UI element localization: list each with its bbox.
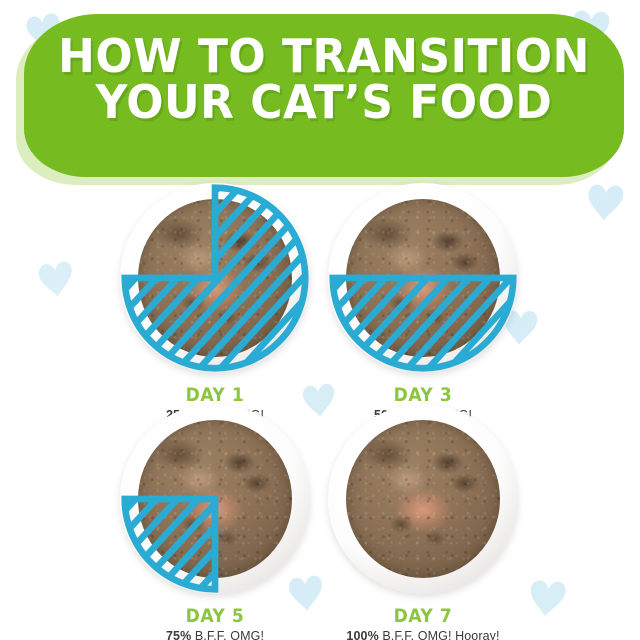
cat-food-surface (346, 420, 500, 578)
day-label: DAY 1 (95, 384, 335, 406)
day-label: DAY 7 (303, 605, 543, 627)
bff-text: B.F.F. OMG! Hooray! (379, 629, 500, 640)
diagonal-hatch-icon (120, 404, 310, 594)
bff-percent: 75% (166, 629, 191, 640)
title-line-1: HOW TO TRANSITION (6, 34, 640, 78)
banner-shape: HOW TO TRANSITION YOUR CAT’S FOOD (24, 14, 624, 177)
food-bowl (328, 404, 518, 594)
food-bowl (328, 183, 518, 373)
infographic-canvas: HOW TO TRANSITION YOUR CAT’S FOOD DAY 12… (0, 0, 640, 640)
transition-step: DAY 125% B.F.F. OMG! (95, 183, 335, 422)
day-label: DAY 5 (95, 605, 335, 627)
bff-text: B.F.F. OMG! (191, 629, 264, 640)
transition-step: DAY 350% B.F.F. OMG! (303, 183, 543, 422)
page-title: HOW TO TRANSITION YOUR CAT’S FOOD (6, 34, 640, 124)
day-label: DAY 3 (303, 384, 543, 406)
title-line-2: YOUR CAT’S FOOD (6, 80, 640, 124)
transition-step: DAY 575% B.F.F. OMG! (95, 404, 335, 640)
diagonal-hatch-icon (120, 183, 310, 373)
food-bowl (120, 404, 310, 594)
day-sublabel: 75% B.F.F. OMG! (95, 629, 335, 640)
day-sublabel: 100% B.F.F. OMG! Hooray! (303, 629, 543, 640)
food-bowl (120, 183, 310, 373)
heart-icon (34, 258, 78, 302)
header-banner: HOW TO TRANSITION YOUR CAT’S FOOD (12, 14, 628, 189)
transition-step: DAY 7100% B.F.F. OMG! Hooray! (303, 404, 543, 640)
diagonal-hatch-icon (328, 183, 518, 373)
bff-percent: 100% (346, 629, 378, 640)
